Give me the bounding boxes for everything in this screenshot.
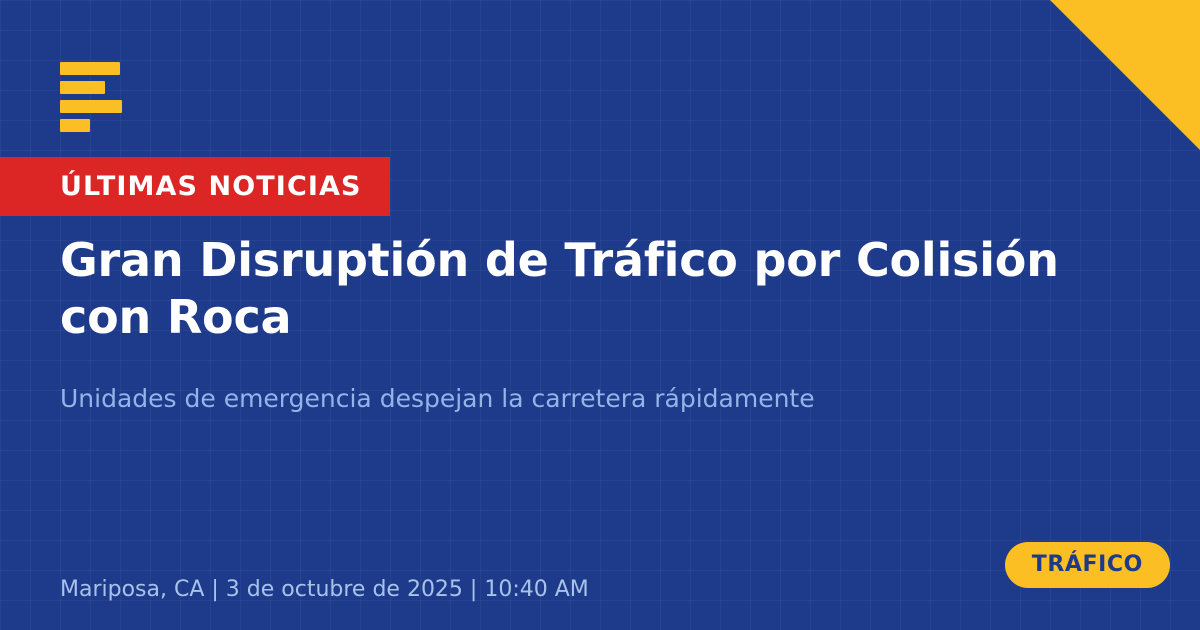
footer-meta-line: Mariposa, CA | 3 de octubre de 2025 | 10… [60,577,589,603]
headline-line-1: Gran Disruptión de Tráfico por Colisión [60,232,1150,289]
headline-block: Gran Disruptión de Tráfico por Colisión … [60,232,1150,346]
logo-bar-2-icon [60,81,105,94]
logo-bar-1-icon [60,62,120,75]
category-badge[interactable]: TRÁFICO [1005,542,1170,588]
breaking-news-ribbon: ÚLTIMAS NOTICIAS [0,157,390,216]
breaking-news-card: ÚLTIMAS NOTICIAS Gran Disruptión de Tráf… [0,0,1200,630]
corner-wedge-decoration [1050,0,1200,150]
breaking-news-label: ÚLTIMAS NOTICIAS [60,173,362,200]
brand-logo[interactable] [60,62,122,132]
headline-line-2: con Roca [60,289,1150,346]
logo-bar-3-icon [60,100,122,113]
subtitle-text: Unidades de emergencia despejan la carre… [60,383,1100,416]
logo-bar-4-icon [60,119,90,132]
